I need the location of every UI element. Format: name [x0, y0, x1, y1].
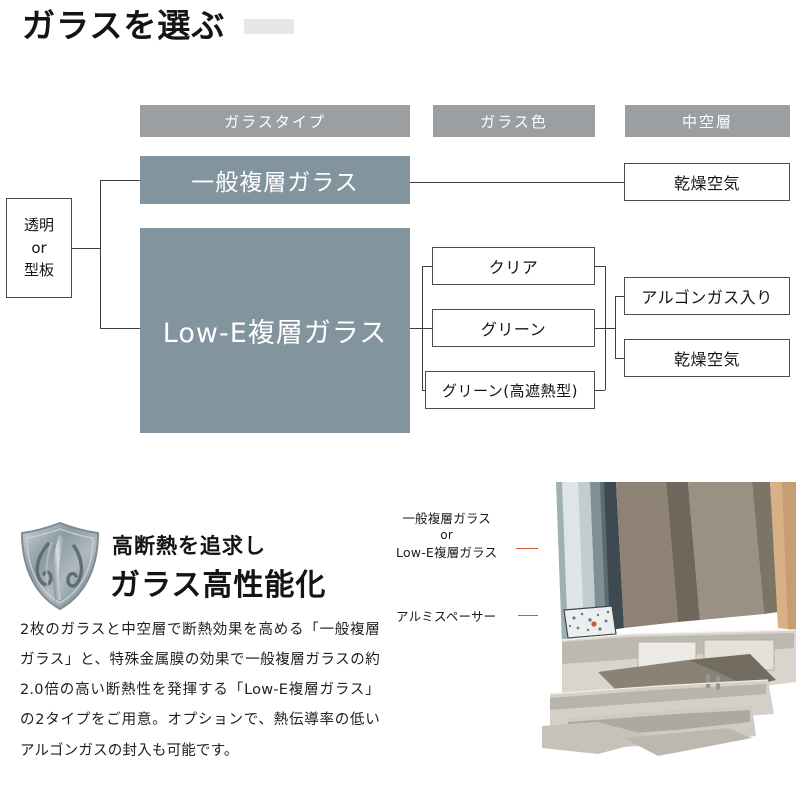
feature-body-text: 2枚のガラスと中空層で断熱効果を高める「一般複層ガラス」と、特殊金属膜の効果で一… — [20, 615, 380, 766]
connector-to-lowe — [100, 328, 140, 329]
connector-clear-out — [595, 266, 605, 267]
air-layer-argon-gas-box[interactable]: アルゴンガス入り — [624, 277, 790, 315]
callout-glass-type: 一般複層ガラス or Low-E複層ガラス — [396, 510, 497, 561]
air-layer-dry-air-bottom-box[interactable]: 乾燥空気 — [624, 339, 790, 377]
source-box-line-3: 型板 — [24, 259, 54, 282]
air-layer-dry-air-top-box[interactable]: 乾燥空気 — [624, 163, 790, 201]
connector-standard-to-dry-air — [410, 182, 624, 183]
connector-to-dry-air-bottom — [615, 358, 624, 359]
glass-type-lowe-box[interactable]: Low-E複層ガラス — [140, 228, 410, 433]
column-header-glass-type: ガラスタイプ — [140, 105, 410, 137]
window-sill-cutaway-image — [538, 482, 796, 772]
connector-gap-split-bracket — [615, 296, 616, 358]
connector-to-standard — [100, 180, 140, 181]
shield-emblem-icon — [18, 520, 102, 612]
glass-color-green-high-shield-box[interactable]: グリーン(高遮熱型) — [425, 371, 595, 409]
callout-glass-line-1: 一般複層ガラス — [396, 510, 497, 527]
callout-aluminum-spacer: アルミスペーサー — [396, 608, 496, 625]
connector-to-argon — [615, 296, 624, 297]
connector-green-out — [595, 328, 605, 329]
connector-color-merge-stem — [605, 328, 615, 329]
source-box-transparent-or-figured: 透明 or 型板 — [6, 198, 72, 298]
column-header-air-layer: 中空層 — [625, 105, 790, 137]
connector-to-color-clear — [422, 266, 432, 267]
callout-glass-line-3: Low-E複層ガラス — [396, 544, 497, 561]
glass-color-clear-box[interactable]: クリア — [432, 247, 595, 285]
connector-green-hs-out — [595, 390, 605, 391]
connector-to-color-green — [422, 328, 432, 329]
feature-kicker: 高断熱を追求し — [112, 530, 266, 560]
glass-type-standard-box[interactable]: 一般複層ガラス — [140, 156, 410, 204]
glass-selection-diagram: ガラスタイプ ガラス色 中空層 透明 or 型板 一般複層ガラス Low-E複層… — [0, 0, 800, 455]
column-header-glass-color: ガラス色 — [433, 105, 595, 137]
source-box-line-2: or — [31, 237, 46, 260]
feature-heading: ガラス高性能化 — [110, 560, 326, 604]
window-sill-cutaway-photo — [538, 482, 796, 772]
connector-source-bracket — [100, 180, 101, 328]
glass-color-green-box[interactable]: グリーン — [432, 309, 595, 347]
feature-section: 高断熱を追求し ガラス高性能化 2枚のガラスと中空層で断熱効果を高める「一般複層… — [0, 455, 800, 800]
connector-source-stem — [72, 248, 100, 249]
callout-glass-line-2: or — [396, 527, 497, 544]
connector-lowe-stem — [410, 328, 422, 329]
source-box-line-1: 透明 — [24, 214, 54, 237]
